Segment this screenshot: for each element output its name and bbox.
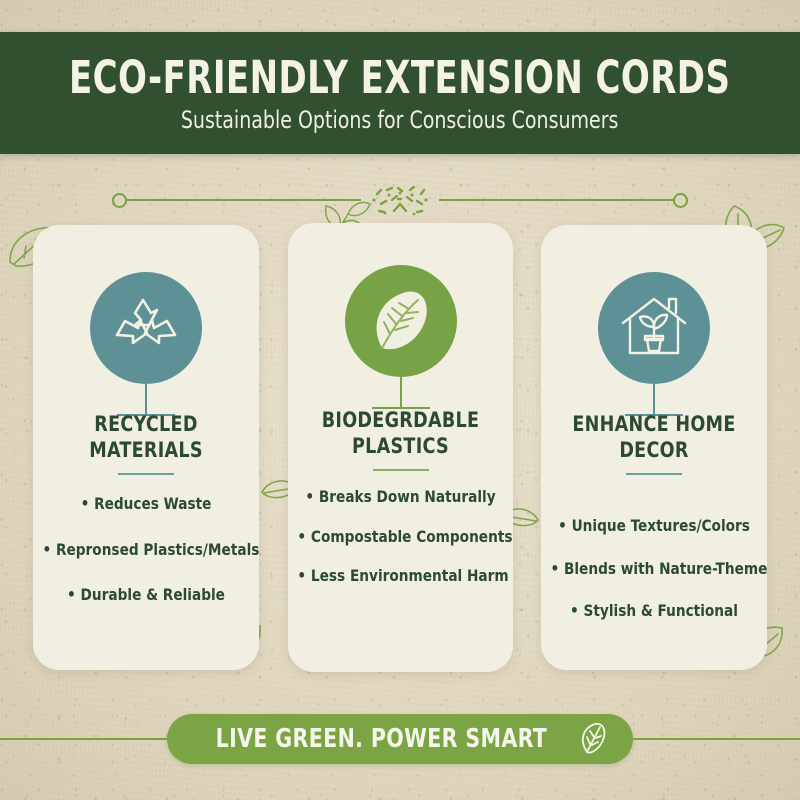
list-item: • Durable & Reliable — [42, 586, 249, 604]
recycle-icon — [111, 295, 181, 361]
divider-dot-left — [112, 193, 127, 208]
list-item: • Blends with Nature-Theme — [550, 560, 757, 578]
card1-bullet-list: • Reduces Waste • Repronsed Plastics/Met… — [37, 495, 255, 632]
card2-icon-group — [288, 265, 513, 409]
card1-title-line1: RECYCLED — [50, 411, 242, 437]
card3-title-line2: DECOR — [558, 437, 750, 463]
footer-tagline-pill[interactable]: LIVE GREEN. POWER SMART — [167, 714, 634, 764]
divider-ornament-icon — [365, 180, 435, 220]
list-item: • Stylish & Functional — [550, 602, 757, 620]
card-recycled-materials[interactable]: RECYCLED MATERIALS • Reduces Waste • Rep… — [33, 225, 259, 670]
list-item: • Compostable Components — [297, 528, 503, 546]
list-item: • Unique Textures/Colors — [550, 517, 757, 535]
card1-title-rule — [118, 473, 174, 475]
list-item: • Less Environmental Harm — [297, 567, 503, 585]
card-enhance-home-decor[interactable]: ENHANCE HOME DECOR • Unique Textures/Col… — [541, 225, 767, 670]
infographic-poster: ECO-FRIENDLY EXTENSION CORDS Sustainable… — [0, 0, 800, 800]
card1-icon-group — [33, 272, 259, 416]
divider-line-right — [439, 199, 673, 201]
footer-tagline-bar: LIVE GREEN. POWER SMART — [0, 712, 800, 766]
footer-line-left — [0, 738, 167, 740]
page-subtitle: Sustainable Options for Conscious Consum… — [181, 108, 619, 132]
card3-title-line1: ENHANCE HOME — [558, 411, 750, 437]
card3-icon-stem — [653, 384, 655, 414]
leaf-outline-icon — [581, 722, 607, 756]
list-item: • Reduces Waste — [42, 495, 249, 513]
card2-title-rule — [373, 469, 429, 471]
card2-title-line2: PLASTICS — [305, 433, 496, 459]
page-title: ECO-FRIENDLY EXTENSION CORDS — [69, 55, 730, 100]
divider-line-left — [127, 199, 361, 201]
house-plant-icon-badge — [598, 272, 710, 384]
card3-icon-group — [541, 272, 767, 416]
card2-icon-stem — [400, 377, 402, 407]
card3-title-rule — [626, 473, 682, 475]
card3-bullet-list: • Unique Textures/Colors • Blends with N… — [545, 517, 763, 645]
header-banner: ECO-FRIENDLY EXTENSION CORDS Sustainable… — [0, 32, 800, 154]
card1-title: RECYCLED MATERIALS — [50, 411, 242, 463]
card2-title: BIODEGRDABLE PLASTICS — [305, 407, 496, 459]
house-plant-icon — [617, 293, 691, 363]
leaf-icon — [368, 286, 434, 356]
list-item: • Breaks Down Naturally — [297, 488, 503, 506]
section-divider — [0, 178, 800, 222]
card1-icon-stem — [145, 384, 147, 414]
card1-title-line2: MATERIALS — [50, 437, 242, 463]
card-biodegradable-plastics[interactable]: BIODEGRDABLE PLASTICS • Breaks Down Natu… — [288, 223, 513, 672]
card3-title: ENHANCE HOME DECOR — [558, 411, 750, 463]
card2-bullet-list: • Breaks Down Naturally • Compostable Co… — [292, 488, 509, 607]
card2-title-line1: BIODEGRDABLE — [305, 407, 496, 433]
footer-tagline-text: LIVE GREEN. POWER SMART — [215, 726, 547, 752]
recycle-icon-badge — [90, 272, 202, 384]
leaf-icon-badge — [345, 265, 457, 377]
list-item: • Repronsed Plastics/Metals — [42, 541, 249, 559]
divider-dot-right — [673, 193, 688, 208]
footer-line-right — [633, 738, 800, 740]
